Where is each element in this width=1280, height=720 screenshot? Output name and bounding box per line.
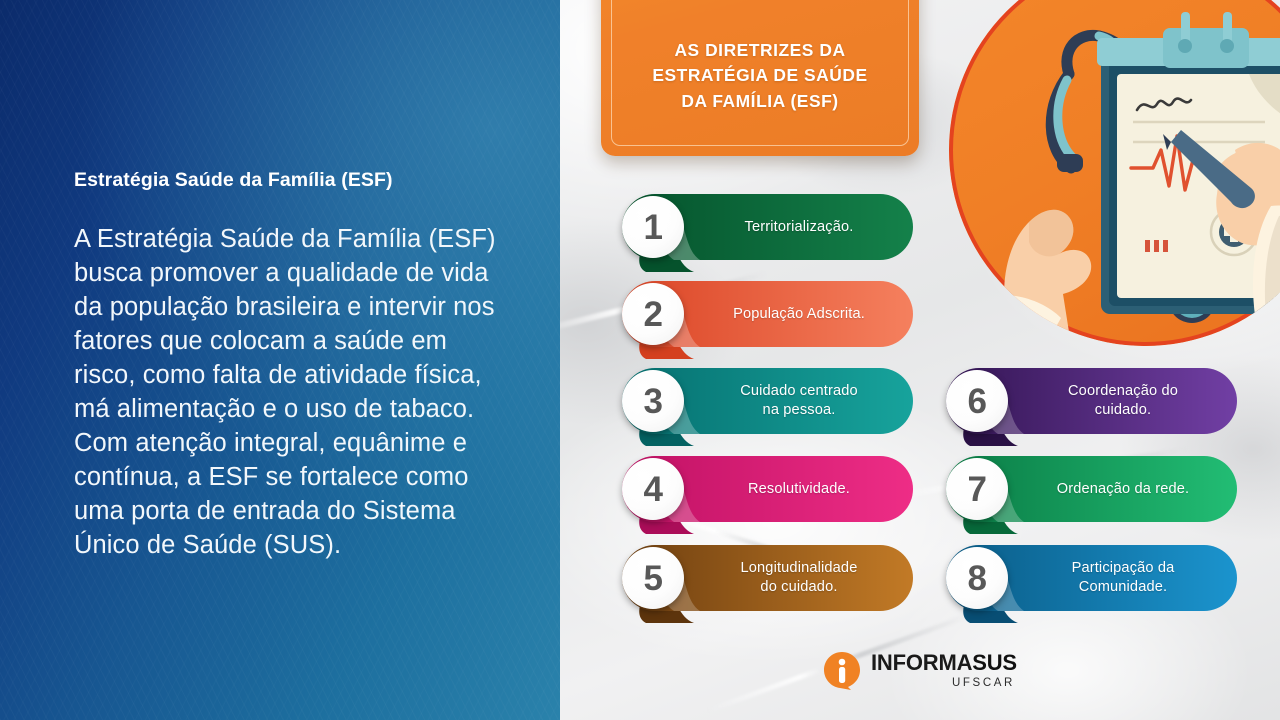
badge-5: 5 [622, 547, 684, 609]
diretriz-item-7[interactable]: 7 Ordenação da rede. [946, 456, 1238, 522]
item-label-3: Cuidado centrado na pessoa. [694, 368, 904, 434]
badge-6: 6 [946, 370, 1008, 432]
title-card-text: AS DIRETRIZES DA ESTRATÉGIA DE SAÚDE DA … [601, 38, 919, 114]
diretriz-item-3[interactable]: 3 Cuidado centrado na pessoa. [622, 368, 914, 434]
item-label-6-line2: cuidado. [1095, 402, 1151, 418]
title-line-3: DA FAMÍLIA (ESF) [601, 89, 919, 114]
item-label-8-line1: Participação da [1072, 560, 1175, 576]
badge-number: 3 [644, 384, 663, 419]
badge-8: 8 [946, 547, 1008, 609]
diretriz-item-6[interactable]: 6 Coordenação do cuidado. [946, 368, 1238, 434]
badge-number: 5 [644, 561, 663, 596]
doctor-hands-clipboard-icon [949, 0, 1280, 346]
badge-7: 7 [946, 458, 1008, 520]
badge-number: 2 [644, 297, 663, 332]
badge-4: 4 [622, 458, 684, 520]
esf-heading: Estratégia Saúde da Família (ESF) [74, 168, 504, 193]
item-label-8-line2: Comunidade. [1079, 579, 1167, 595]
item-label-6: Coordenação do cuidado. [1018, 368, 1228, 434]
item-label-3-line2: na pessoa. [763, 402, 836, 418]
diretriz-item-5[interactable]: 5 Longitudinalidade do cuidado. [622, 545, 914, 611]
badge-3: 3 [622, 370, 684, 432]
item-label-6-line1: Coordenação do [1068, 383, 1178, 399]
badge-number: 1 [644, 210, 663, 245]
logo-wordmark: INFORMASUS UFSCAR [871, 652, 1017, 690]
logo-sus: SUS [972, 650, 1017, 675]
title-line-1: AS DIRETRIZES DA [601, 38, 919, 63]
badge-2: 2 [622, 283, 684, 345]
badge-number: 6 [968, 384, 987, 419]
logo-informa: INFORMA [871, 650, 972, 675]
logo-subtitle: UFSCAR [952, 678, 1017, 690]
item-label-3-line1: Cuidado centrado [740, 383, 858, 399]
item-label-8: Participação da Comunidade. [1018, 545, 1228, 611]
diretriz-item-8[interactable]: 8 Participação da Comunidade. [946, 545, 1238, 611]
illustration-circle [949, 0, 1280, 346]
badge-1: 1 [622, 196, 684, 258]
diretriz-item-1[interactable]: 1 Territorialização. [622, 194, 914, 260]
item-label-1: Territorialização. [694, 194, 904, 260]
item-label-2: População Adscrita. [694, 281, 904, 347]
item-label-5: Longitudinalidade do cuidado. [694, 545, 904, 611]
item-label-5-line2: do cuidado. [760, 579, 837, 595]
esf-paragraph: A Estratégia Saúde da Família (ESF) busc… [74, 223, 504, 562]
left-info-panel: Estratégia Saúde da Família (ESF) A Estr… [0, 0, 560, 720]
infographic-slide: Estratégia Saúde da Família (ESF) A Estr… [0, 0, 1280, 720]
diretriz-item-2[interactable]: 2 População Adscrita. [622, 281, 914, 347]
title-line-2: ESTRATÉGIA DE SAÚDE [601, 63, 919, 88]
informasus-logo[interactable]: INFORMASUS UFSCAR [822, 645, 1012, 697]
diretriz-item-4[interactable]: 4 Resolutividade. [622, 456, 914, 522]
item-label-7: Ordenação da rede. [1018, 456, 1228, 522]
item-label-4: Resolutividade. [694, 456, 904, 522]
logo-title: INFORMASUS [871, 652, 1017, 674]
badge-number: 4 [644, 472, 663, 507]
badge-number: 7 [968, 472, 987, 507]
badge-number: 8 [968, 561, 987, 596]
informasus-speech-bubble-icon [822, 651, 862, 691]
item-label-5-line1: Longitudinalidade [741, 560, 858, 576]
left-text-block: Estratégia Saúde da Família (ESF) A Estr… [74, 168, 504, 562]
title-card: AS DIRETRIZES DA ESTRATÉGIA DE SAÚDE DA … [601, 0, 919, 156]
